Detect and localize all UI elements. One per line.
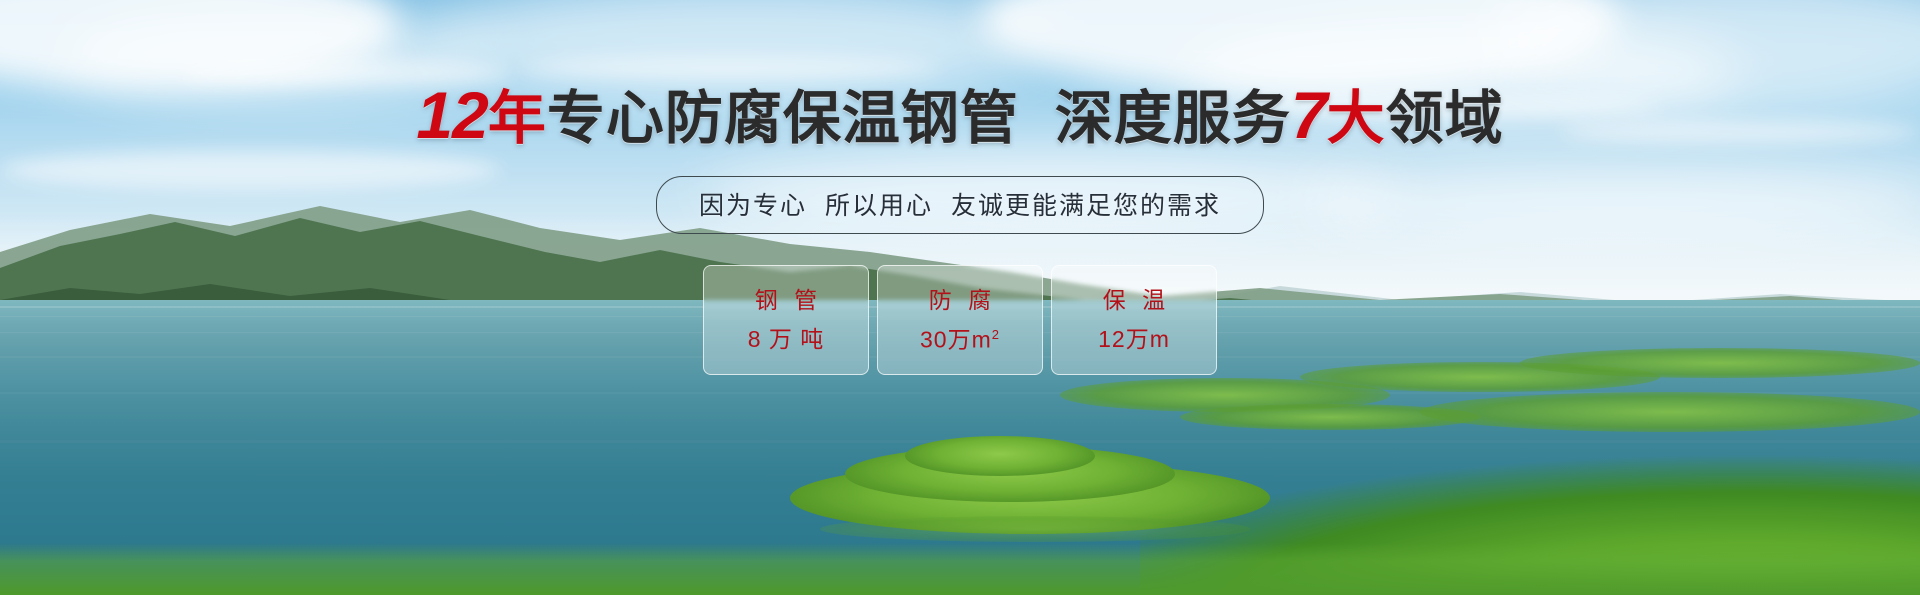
stat-card-label: 钢 管 [750, 289, 822, 312]
subtitle-segment-1: 因为专心 [699, 192, 807, 220]
subtitle-pill: 因为专心所以用心友诚更能满足您的需求 [656, 176, 1264, 234]
headline-unit-fields: 大 [1327, 86, 1386, 151]
stat-card-value-text: 12万m [1098, 326, 1170, 352]
stat-card-insulation[interactable]: 保 温 12万m [1051, 265, 1217, 375]
banner-content: 12年专心防腐保温钢管深度服务7大领域 因为专心所以用心友诚更能满足您的需求 钢… [0, 0, 1920, 595]
headline-number-fields: 7 [1291, 78, 1327, 152]
stat-card-label: 防 腐 [924, 289, 996, 312]
headline-text-tertiary: 领域 [1386, 86, 1504, 151]
headline-unit-years: 年 [488, 86, 547, 151]
headline-text-secondary: 深度服务 [1055, 86, 1291, 151]
headline: 12年专心防腐保温钢管深度服务7大领域 [0, 82, 1920, 148]
stat-card-value: 12万m [1098, 328, 1170, 351]
headline-number-years: 12 [416, 78, 487, 152]
stat-card-value-text: 8 万 吨 [748, 326, 825, 352]
stat-card-group: 钢 管 8 万 吨 防 腐 30万m2 保 温 12万m [0, 265, 1920, 375]
stat-card-value-superscript: 2 [992, 327, 1000, 342]
headline-text-primary: 专心防腐保温钢管 [547, 86, 1019, 151]
stat-card-steel-pipe[interactable]: 钢 管 8 万 吨 [703, 265, 869, 375]
hero-banner: 12年专心防腐保温钢管深度服务7大领域 因为专心所以用心友诚更能满足您的需求 钢… [0, 0, 1920, 595]
subtitle-wrapper: 因为专心所以用心友诚更能满足您的需求 [0, 176, 1920, 234]
stat-card-value: 8 万 吨 [748, 328, 825, 351]
subtitle-segment-2: 所以用心 [825, 192, 933, 220]
subtitle-segment-3: 友诚更能满足您的需求 [951, 192, 1221, 220]
stat-card-anticorrosion[interactable]: 防 腐 30万m2 [877, 265, 1043, 375]
stat-card-label: 保 温 [1098, 289, 1170, 312]
stat-card-value-text: 30万m [920, 326, 992, 352]
stat-card-value: 30万m2 [920, 328, 1000, 352]
